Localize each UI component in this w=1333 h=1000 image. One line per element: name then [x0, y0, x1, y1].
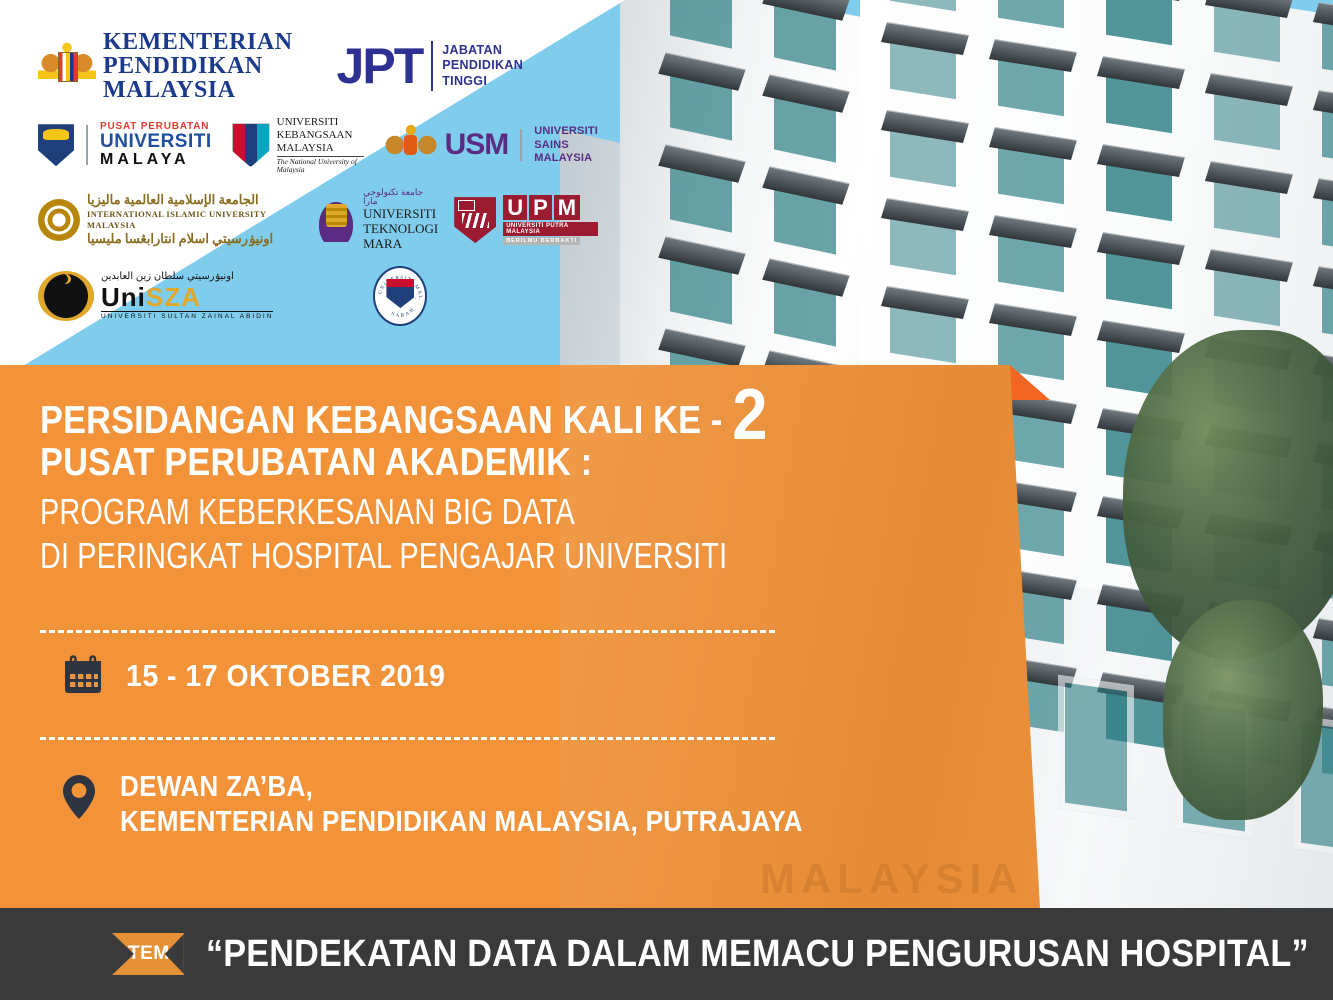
ukm-wordmark: UNIVERSITI KEBANGSAAN MALAYSIA The Natio…	[277, 116, 364, 174]
upm-tagline: UNIVERSITI PUTRA MALAYSIA	[503, 222, 598, 236]
title-line-4: DI PERINGKAT HOSPITAL PENGAJAR UNIVERSIT…	[40, 534, 648, 578]
iium-arabic: الجامعة الإسلامية العالمية ماليزيا	[87, 192, 300, 209]
upm-letter-m: M	[554, 195, 580, 220]
kpm-line-1: KEMENTERIAN	[103, 30, 293, 54]
logo-jabatan-pendidikan-tinggi: JPT JABATAN PENDIDIKAN TINGGI	[337, 41, 524, 91]
event-venue-row: DEWAN ZA’BA, KEMENTERIAN PENDIDIKAN MALA…	[62, 770, 879, 841]
tree-lower	[1163, 600, 1323, 820]
usm-acronym: USM	[445, 130, 509, 160]
ukm-line-1: UNIVERSITI	[277, 116, 364, 129]
sponsor-logo-bar: KEMENTERIAN PENDIDIKAN MALAYSIA JPT JABA…	[38, 30, 598, 340]
upm-motto: BERILMU BERBAKTI	[503, 237, 580, 245]
um-divider	[86, 125, 88, 165]
uitm-arabic: جامعة تكنولوجي مارا	[363, 188, 438, 206]
map-pin-icon	[62, 774, 96, 820]
logo-universiti-sains-malaysia: USM UNIVERSITI SAINS MALAYSIA	[384, 120, 598, 170]
uitm-crest-icon	[316, 198, 356, 242]
usm-line-2: SAINS	[534, 139, 598, 152]
ums-ring-text-svg: UNIVERSITI MALAYSIA SABAH	[375, 268, 425, 324]
kpm-wordmark: KEMENTERIAN PENDIDIKAN MALAYSIA	[103, 30, 293, 102]
title-line-1: PERSIDANGAN KEBANGSAAN KALI KE - 2	[40, 400, 709, 442]
usm-jata-crest-icon	[384, 120, 438, 170]
um-line-malaya: MALAYA	[100, 151, 212, 169]
usm-line-1: UNIVERSITI	[534, 125, 598, 138]
title-line-3: PROGRAM KEBERKESANAN BIG DATA	[40, 490, 648, 534]
kpm-line-3: MALAYSIA	[103, 78, 293, 102]
unisza-arabic: اونيۏرسيتي سلطان زين العابدين	[101, 272, 273, 282]
theme-statement-text: “PENDEKATAN DATA DALAM MEMACU PENGURUSAN…	[206, 933, 1309, 976]
venue-line-1: DEWAN ZA’BA,	[120, 770, 803, 805]
conference-poster: MALAYSIA KEMENTERIAN PENDIDIKAN MALAYSIA…	[0, 0, 1333, 1000]
uitm-line-2: TEKNOLOGI	[363, 222, 438, 237]
divider-above-date	[40, 630, 775, 633]
unisza-wordmark: اونيۏرسيتي سلطان زين العابدين UniSZA UNI…	[101, 272, 273, 320]
base-window	[1058, 675, 1134, 820]
upm-letter-u: U	[503, 195, 527, 220]
um-wordmark: PUSAT PERUBATAN UNIVERSITI MALAYA	[100, 121, 212, 169]
uitm-wordmark: جامعة تكنولوجي مارا UNIVERSITI TEKNOLOGI…	[363, 188, 438, 251]
ukm-line-3: MALAYSIA	[277, 142, 364, 155]
venue-line-2: KEMENTERIAN PENDIDIKAN MALAYSIA, PUTRAJA…	[120, 805, 803, 840]
divider-below-date	[40, 737, 775, 740]
iium-wordmark: الجامعة الإسلامية العالمية ماليزيا INTER…	[87, 192, 300, 248]
theme-footer-bar: TEMA “PENDEKATAN DATA DALAM MEMACU PENGU…	[0, 908, 1333, 1000]
ums-roundel-icon: UNIVERSITI MALAYSIA SABAH	[373, 266, 427, 326]
jpt-acronym: JPT	[337, 41, 423, 91]
logo-row-1: KEMENTERIAN PENDIDIKAN MALAYSIA JPT JABA…	[38, 30, 598, 102]
jpt-line-1: JABATAN	[442, 43, 523, 59]
logo-universiti-putra-malaysia: U P M UNIVERSITI PUTRA MALAYSIA BERILMU …	[454, 195, 598, 245]
unisza-acronym: UniSZA	[101, 284, 273, 310]
upm-wordmark: U P M UNIVERSITI PUTRA MALAYSIA BERILMU …	[503, 195, 598, 245]
tema-ribbon: TEMA	[112, 933, 184, 975]
iium-rosette-icon	[38, 199, 80, 241]
ukm-line-2: KEBANGSAAN	[277, 129, 364, 142]
logo-universiti-malaysia-sabah: UNIVERSITI MALAYSIA SABAH	[373, 266, 427, 326]
tema-ribbon-label: TEMA	[112, 943, 184, 965]
event-date-text: 15 - 17 OKTOBER 2019	[126, 658, 445, 694]
uitm-line-3: MARA	[363, 237, 438, 252]
iium-jawi: اونيۏرسيتي اسلام انتارابڠسا مليسيا	[87, 231, 300, 248]
title-line-2: PUSAT PERUBATAN AKADEMIK :	[40, 442, 709, 484]
logo-universiti-teknologi-mara: جامعة تكنولوجي مارا UNIVERSITI TEKNOLOGI…	[316, 188, 438, 251]
title-line-1-text: PERSIDANGAN KEBANGSAAN KALI KE -	[40, 399, 732, 442]
logo-kementerian-pendidikan-malaysia: KEMENTERIAN PENDIDIKAN MALAYSIA	[38, 30, 293, 102]
logo-universiti-kebangsaan-malaysia: UNIVERSITI KEBANGSAAN MALAYSIA The Natio…	[232, 116, 364, 174]
calendar-icon	[62, 655, 104, 697]
svg-text:SABAH: SABAH	[390, 306, 417, 319]
logo-row-4: اونيۏرسيتي سلطان زين العابدين UniSZA UNI…	[38, 266, 598, 326]
svg-text:UNIVERSITI MALAYSIA: UNIVERSITI MALAYSIA	[375, 268, 423, 300]
usm-line-3: MALAYSIA	[534, 152, 598, 165]
ukm-tagline: The National University of Malaysia	[277, 156, 364, 175]
jpt-divider	[431, 41, 433, 91]
iium-english: INTERNATIONAL ISLAMIC UNIVERSITY MALAYSI…	[87, 209, 300, 231]
event-venue-text: DEWAN ZA’BA, KEMENTERIAN PENDIDIKAN MALA…	[120, 770, 803, 841]
upm-shield-icon	[454, 197, 496, 243]
kpm-line-2: PENDIDIKAN	[103, 54, 293, 78]
event-date-row: 15 - 17 OKTOBER 2019	[62, 655, 473, 697]
ukm-shield-icon	[232, 123, 270, 167]
unisza-tagline: UNIVERSITI SULTAN ZAINAL ABIDIN	[101, 311, 273, 320]
usm-divider	[520, 129, 522, 161]
upm-acronym: U P M	[503, 195, 582, 220]
logo-international-islamic-university-malaysia: الجامعة الإسلامية العالمية ماليزيا INTER…	[38, 192, 300, 248]
logo-row-3: الجامعة الإسلامية العالمية ماليزيا INTER…	[38, 188, 598, 251]
unisza-word-1: Uni	[101, 282, 146, 312]
unisza-word-2: SZA	[146, 282, 201, 312]
uitm-line-1: UNIVERSITI	[363, 207, 438, 222]
title-edition-number: 2	[732, 375, 767, 455]
upm-letter-p: P	[529, 195, 552, 220]
jata-negara-crest-icon	[38, 37, 96, 95]
logo-row-2: PUSAT PERUBATAN UNIVERSITI MALAYA UNIVER…	[38, 116, 598, 174]
jpt-line-3: TINGGI	[442, 74, 523, 90]
um-shield-icon	[38, 124, 74, 166]
logo-universiti-sultan-zainal-abidin: اونيۏرسيتي سلطان زين العابدين UniSZA UNI…	[38, 271, 273, 321]
poster-title-block: PERSIDANGAN KEBANGSAAN KALI KE - 2 PUSAT…	[40, 400, 800, 578]
jpt-line-2: PENDIDIKAN	[442, 58, 523, 74]
jpt-wordmark: JABATAN PENDIDIKAN TINGGI	[442, 43, 523, 90]
logo-pusat-perubatan-universiti-malaya: PUSAT PERUBATAN UNIVERSITI MALAYA	[38, 121, 212, 169]
unisza-roundel-icon	[38, 271, 94, 321]
usm-wordmark: UNIVERSITI SAINS MALAYSIA	[534, 125, 598, 165]
um-line-universiti: UNIVERSITI	[100, 132, 212, 151]
